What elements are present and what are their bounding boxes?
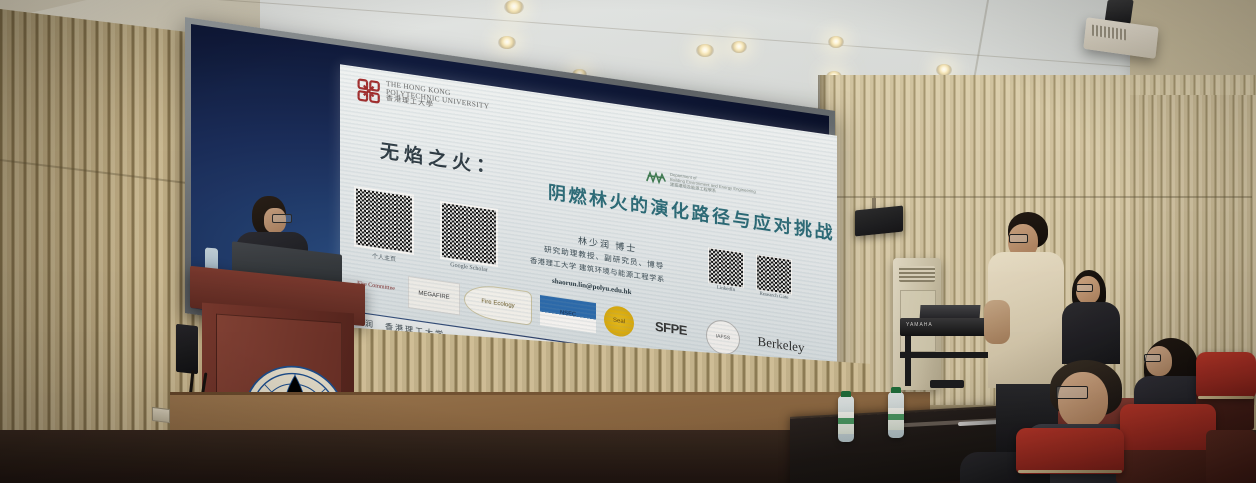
beee-wordmark: Department of Building Environment and E… [670, 172, 765, 201]
glasses-icon [1056, 386, 1088, 399]
presenter-email: shaorun.lin@polyu.edu.hk [552, 277, 631, 296]
auditorium-seat[interactable] [1196, 352, 1256, 398]
piano-brand-label: YAMAHA [906, 322, 933, 328]
sponsor-logo-6: IAFSS [706, 318, 740, 357]
attendee-arm [984, 300, 1010, 344]
qr-code-image [756, 254, 792, 295]
piano-pedal[interactable] [930, 380, 964, 388]
sponsor-logo-3: NSFC [540, 295, 596, 333]
wall-speaker [855, 205, 903, 236]
glasses-icon [1076, 284, 1093, 292]
bottle-cap [891, 387, 901, 393]
seat-back[interactable] [1206, 430, 1256, 483]
ceiling-downlight [696, 44, 714, 57]
polyu-logo-icon [356, 76, 382, 106]
bottle-label [888, 408, 904, 430]
glasses-icon [272, 214, 292, 223]
attendee-top [1062, 302, 1120, 364]
qr-code-image [354, 186, 414, 255]
slide-title-part1: 无焰之火： [380, 136, 500, 180]
piano-stand-left [905, 336, 911, 386]
qr-block-researchgate[interactable]: Research Gate [756, 254, 792, 301]
water-bottle[interactable] [888, 392, 904, 438]
qr-block-linkedin[interactable]: LinkedIn [708, 247, 744, 294]
ceiling-downlight [731, 41, 747, 53]
bottle-cap [841, 391, 851, 397]
wall-outlet[interactable] [152, 407, 170, 423]
lecture-hall-photo: THE HONG KONG POLYTECHNIC UNIVERSITY 香港理… [0, 0, 1256, 483]
attendee-face [1058, 372, 1108, 428]
qr-code-image [440, 201, 498, 267]
seat-trim [1018, 470, 1122, 473]
polyu-wordmark: THE HONG KONG POLYTECHNIC UNIVERSITY 香港理… [386, 80, 489, 118]
auditorium-seat[interactable] [1016, 428, 1124, 474]
qr-block-google-scholar[interactable]: Google Scholar [440, 201, 498, 275]
air-conditioner-vent [899, 266, 935, 282]
glasses-icon [1009, 234, 1028, 243]
ceiling-downlight [828, 36, 844, 48]
bottle-label [838, 412, 854, 434]
ceiling-downlight [504, 0, 524, 14]
sponsor-logo-2: Fire Ecology [464, 282, 532, 326]
qr-code-image [708, 247, 744, 288]
seat-trim [1198, 396, 1254, 399]
sponsor-logo-4: Seal [604, 304, 634, 338]
sponsor-logo-5: SFPE [642, 312, 700, 346]
wall-seam [822, 196, 1252, 198]
qr-block-homepage[interactable]: 个人主页 [354, 186, 414, 266]
beee-logo-icon [645, 168, 667, 187]
ceiling-downlight [498, 36, 516, 49]
water-bottle[interactable] [838, 396, 854, 442]
glasses-icon [1144, 354, 1161, 362]
sponsor-logo-1: MEGAFIRE [408, 276, 460, 315]
wall-mounted-box [176, 324, 198, 374]
